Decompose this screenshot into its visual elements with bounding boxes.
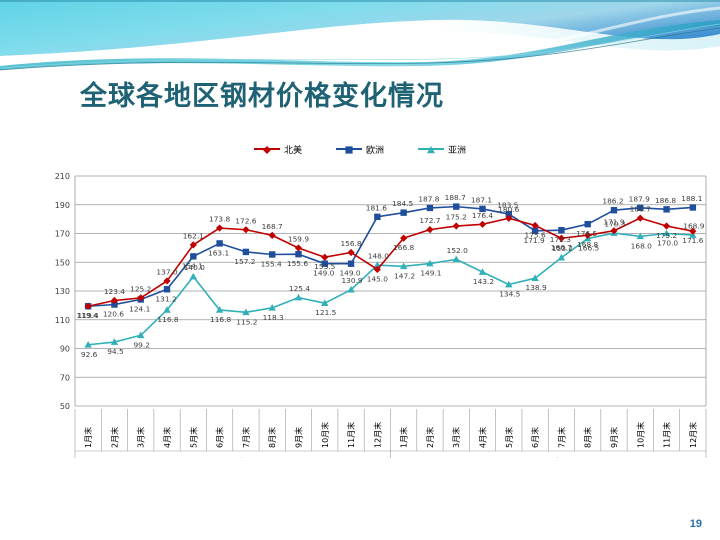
data-point-label: 125.2	[130, 284, 151, 293]
data-point-label: 175.2	[446, 213, 467, 222]
data-point-label: 92.6	[81, 350, 98, 359]
data-point-label: 149.1	[420, 269, 441, 278]
data-point-label: 115.2	[236, 317, 257, 326]
y-axis-tick-label: 150	[55, 258, 70, 267]
data-point-label: 134.5	[499, 290, 520, 299]
x-axis-category-label: 10月末	[635, 422, 645, 448]
data-point-label: 183.5	[497, 201, 518, 210]
data-point-label: 187.9	[629, 194, 650, 203]
y-axis-tick-label: 110	[55, 316, 70, 325]
x-axis-category-label: 4月末	[162, 427, 172, 448]
data-point-marker	[690, 204, 696, 210]
data-point-marker	[427, 205, 433, 211]
data-point-label: 188.1	[681, 194, 702, 203]
data-point-label: 187.8	[418, 194, 439, 203]
data-point-label: 163.1	[208, 248, 229, 257]
square-marker-icon	[345, 146, 353, 154]
data-point-label: 173.8	[209, 215, 230, 224]
data-point-label: 176.4	[472, 211, 493, 220]
data-point-label: 137.0	[156, 267, 177, 276]
data-point-marker	[453, 256, 460, 263]
data-point-label: 148.0	[368, 252, 389, 261]
x-axis-category-label: 11月末	[346, 422, 356, 448]
legend-label-asia: 亚洲	[448, 143, 466, 156]
data-point-label: 119.4	[77, 311, 98, 320]
y-axis-tick-label: 210	[55, 172, 70, 181]
data-point-label: 149.0	[313, 269, 334, 278]
data-point-marker	[242, 226, 249, 233]
y-axis-tick-label: 130	[55, 287, 70, 296]
y-axis-tick-label: 190	[55, 201, 70, 210]
x-axis-category-label: 4月末	[478, 427, 488, 448]
data-point-marker	[374, 214, 380, 220]
data-point-label: 118.3	[263, 313, 284, 322]
data-point-marker	[663, 206, 669, 212]
x-axis-category-label: 11月末	[662, 422, 672, 448]
y-axis-tick-label: 50	[60, 402, 70, 411]
legend-item-north-america: 北美	[254, 143, 302, 156]
data-point-label: 180.7	[630, 205, 651, 214]
x-axis-category-label: 1月末	[83, 427, 93, 448]
data-point-label: 131.2	[155, 294, 176, 303]
x-axis-category-label: 12月末	[372, 422, 382, 448]
x-axis-category-label: 6月末	[530, 427, 540, 448]
x-axis-category-label: 7月末	[241, 427, 251, 448]
data-point-label: 120.6	[103, 310, 124, 319]
x-axis-category-label: 1月末	[399, 427, 409, 448]
page-number: 19	[690, 518, 702, 530]
y-axis-tick-label: 90	[60, 345, 70, 354]
data-point-marker	[190, 253, 196, 259]
data-point-label: 166.8	[393, 243, 414, 252]
data-point-label: 168.0	[631, 241, 652, 250]
x-axis-category-label: 10月末	[320, 422, 330, 448]
data-point-marker	[400, 209, 406, 215]
x-axis-category-label: 5月末	[504, 427, 514, 448]
page-title: 全球各地区钢材价格变化情况	[80, 74, 444, 113]
slide-header-decoration	[0, 0, 720, 72]
triangle-marker-icon	[427, 146, 435, 154]
data-point-label: 140.0	[184, 263, 205, 272]
data-point-label: 166.5	[578, 244, 599, 253]
legend-item-asia: 亚洲	[418, 143, 466, 156]
data-point-marker	[269, 232, 276, 239]
data-point-marker	[426, 226, 433, 233]
data-point-marker	[164, 286, 170, 292]
data-point-marker	[190, 273, 197, 280]
data-point-label: 184.5	[392, 199, 413, 208]
data-point-marker	[558, 227, 564, 233]
data-point-label: 130.9	[341, 276, 362, 285]
x-axis-category-label: 9月末	[609, 427, 619, 448]
data-point-marker	[663, 222, 670, 229]
y-axis-tick-label: 70	[60, 373, 70, 382]
y-axis-tick-label: 170	[55, 230, 70, 239]
data-point-label: 138.9	[526, 283, 547, 292]
data-point-label: 155.6	[287, 259, 308, 268]
data-point-label: 116.8	[157, 315, 178, 324]
data-point-label: 156.8	[340, 239, 361, 248]
data-point-label: 147.2	[394, 271, 415, 280]
data-point-label: 143.2	[473, 277, 494, 286]
data-point-label: 155.4	[261, 259, 282, 268]
data-point-marker	[295, 251, 301, 257]
data-point-label: 116.8	[210, 315, 231, 324]
data-point-marker	[453, 222, 460, 229]
data-point-label: 157.2	[234, 257, 255, 266]
data-point-label: 121.5	[315, 308, 336, 317]
legend-label-europe: 欧洲	[366, 143, 384, 156]
data-point-marker	[295, 294, 302, 301]
x-axis-category-label: 6月末	[215, 427, 225, 448]
data-point-label: 171.9	[524, 236, 545, 245]
legend-line-asia	[418, 148, 444, 150]
data-point-label: 188.7	[445, 193, 466, 202]
data-point-marker	[479, 221, 486, 228]
data-point-marker	[637, 215, 644, 222]
data-point-label: 168.7	[262, 222, 283, 231]
data-point-label: 168.9	[683, 222, 704, 231]
data-point-label: 176.5	[576, 229, 597, 238]
data-point-marker	[611, 207, 617, 213]
x-axis-group-label: 2017年	[533, 457, 564, 458]
x-axis-category-label: 9月末	[293, 427, 303, 448]
data-point-marker	[348, 260, 354, 266]
data-point-label: 94.5	[107, 347, 124, 356]
x-axis-category-label: 8月末	[583, 427, 593, 448]
data-point-label: 187.1	[471, 195, 492, 204]
data-point-label: 172.7	[419, 216, 440, 225]
data-point-label: 170.0	[657, 239, 678, 248]
x-axis-category-label: 2月末	[109, 427, 119, 448]
data-point-label: 172.3	[550, 235, 571, 244]
chart-container: 北美 欧洲 亚洲 5070901101301501701902101月末2月末3…	[0, 140, 720, 460]
x-axis-category-label: 12月末	[688, 422, 698, 448]
data-point-label: 170.3	[604, 220, 625, 229]
x-axis-category-label: 7月末	[556, 427, 566, 448]
data-point-marker	[295, 244, 302, 251]
legend-line-europe	[336, 148, 362, 150]
data-point-label: 181.6	[366, 203, 387, 212]
data-point-label: 171.6	[682, 236, 703, 245]
series-asia	[84, 229, 696, 347]
data-point-marker	[321, 254, 328, 261]
data-point-label: 99.2	[133, 340, 149, 349]
data-point-marker	[216, 240, 222, 246]
data-point-label: 159.9	[288, 235, 309, 244]
data-point-label: 153.2	[552, 244, 573, 253]
x-axis-category-label: 3月末	[136, 427, 146, 448]
line-chart-plot: 5070901101301501701902101月末2月末3月末4月末5月末6…	[0, 158, 720, 458]
legend-item-europe: 欧洲	[336, 143, 384, 156]
x-axis-group-label: 2016年	[218, 457, 249, 458]
data-point-label: 186.8	[655, 196, 676, 205]
data-point-label: 162.1	[183, 231, 204, 240]
legend-line-north-america	[254, 148, 280, 150]
data-point-label: 172.6	[235, 216, 256, 225]
diamond-marker-icon	[263, 146, 271, 154]
data-point-label: 186.2	[602, 197, 623, 206]
x-axis-category-label: 3月末	[451, 427, 461, 448]
legend-label-north-america: 北美	[284, 143, 302, 156]
data-point-label: 124.1	[129, 304, 150, 313]
data-point-label: 125.4	[289, 284, 310, 293]
x-axis-category-label: 2月末	[425, 427, 435, 448]
data-point-marker	[243, 249, 249, 255]
data-point-label: 152.0	[447, 246, 468, 255]
chart-legend: 北美 欧洲 亚洲	[0, 140, 720, 158]
data-point-label: 145.0	[367, 274, 388, 283]
data-point-marker	[269, 251, 275, 257]
x-axis-category-label: 8月末	[267, 427, 277, 448]
data-point-marker	[584, 221, 590, 227]
data-point-marker	[453, 203, 459, 209]
data-point-label: 123.4	[104, 287, 125, 296]
x-axis-category-label: 5月末	[188, 427, 198, 448]
